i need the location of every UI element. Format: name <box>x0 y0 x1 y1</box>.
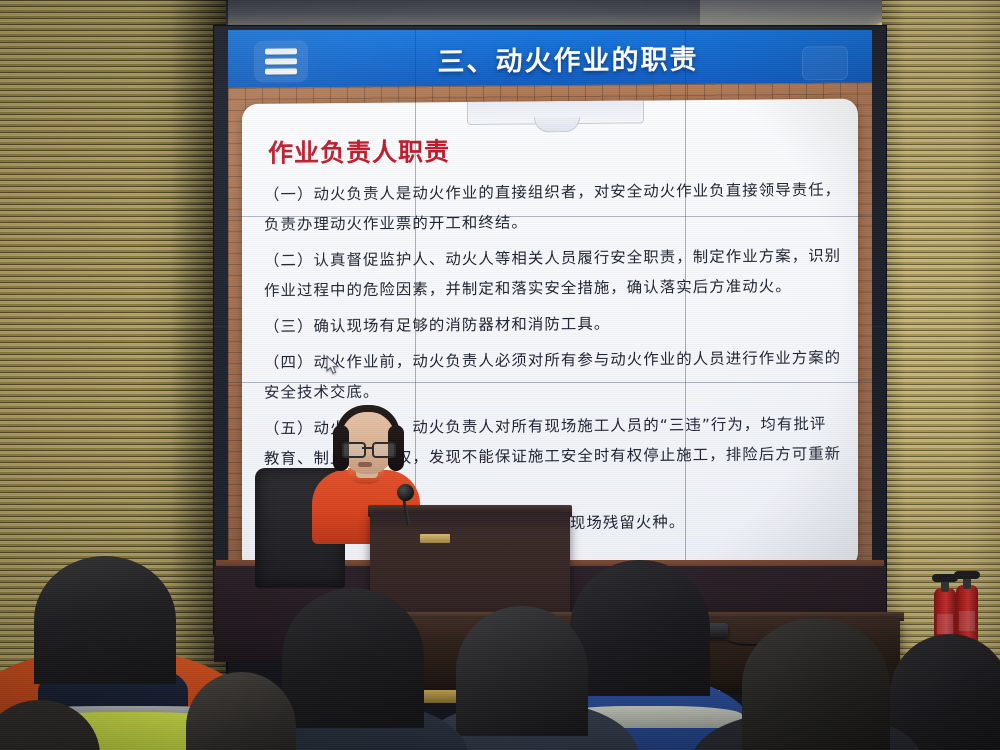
hamburger-menu-icon[interactable] <box>254 40 308 83</box>
menu-bar-2 <box>265 58 297 64</box>
presenter-mouth <box>358 462 372 467</box>
attendee-purple-head <box>890 634 1000 750</box>
slide-paragraph-4: （四）动火作业前，动火负责人必须对所有参与动火作业的人员进行作业方案的安全技术交… <box>264 343 842 408</box>
extinguisher-handle-2 <box>954 571 980 579</box>
top-bar-panel-button[interactable] <box>802 46 848 80</box>
led-seam-vertical-2 <box>685 30 686 570</box>
extinguisher-label <box>937 614 953 634</box>
slide-paragraph-3: （三）确认现场有足够的消防器材和消防工具。 <box>264 307 842 342</box>
glasses-bridge <box>362 447 374 449</box>
led-seam-horizontal-2 <box>228 382 872 383</box>
slide-paragraph-2: （二）认真督促监护人、动火人等相关人员履行安全职责，制定作业方案，识别作业过程中… <box>264 241 842 306</box>
slide-paragraph-1: （一）动火负责人是动火作业的直接组织者，对安全动火作业负直接领导责任，负责办理动… <box>264 175 842 240</box>
slide-heading: 作业负责人职责 <box>268 132 450 170</box>
extinguisher-label-2 <box>959 611 975 631</box>
led-seam-horizontal-1 <box>228 216 872 217</box>
lectern <box>370 512 570 620</box>
attendee-grey-hair-head <box>742 618 890 750</box>
attendee-blue-workwear-head <box>570 560 710 696</box>
menu-bar-1 <box>265 48 297 54</box>
menu-bar-3 <box>265 68 297 74</box>
slide-section-title: 三、动火作业的职责 <box>378 37 758 80</box>
screenshot-stage: 三、动火作业的职责 作业负责人职责 （一）动火负责人是动火作业的直接组织者，对安… <box>0 0 1000 750</box>
microphone-icon <box>397 484 414 501</box>
attendee-orange-hivis-head <box>34 556 176 684</box>
lectern-nameplate <box>420 534 450 543</box>
attendee-dark-jacket-head <box>282 588 424 728</box>
glasses-lens-right-icon <box>372 442 396 458</box>
attendee-maroon-head <box>456 606 588 736</box>
glasses-lens-left-icon <box>342 442 366 458</box>
card-tab-handle[interactable] <box>467 100 644 125</box>
